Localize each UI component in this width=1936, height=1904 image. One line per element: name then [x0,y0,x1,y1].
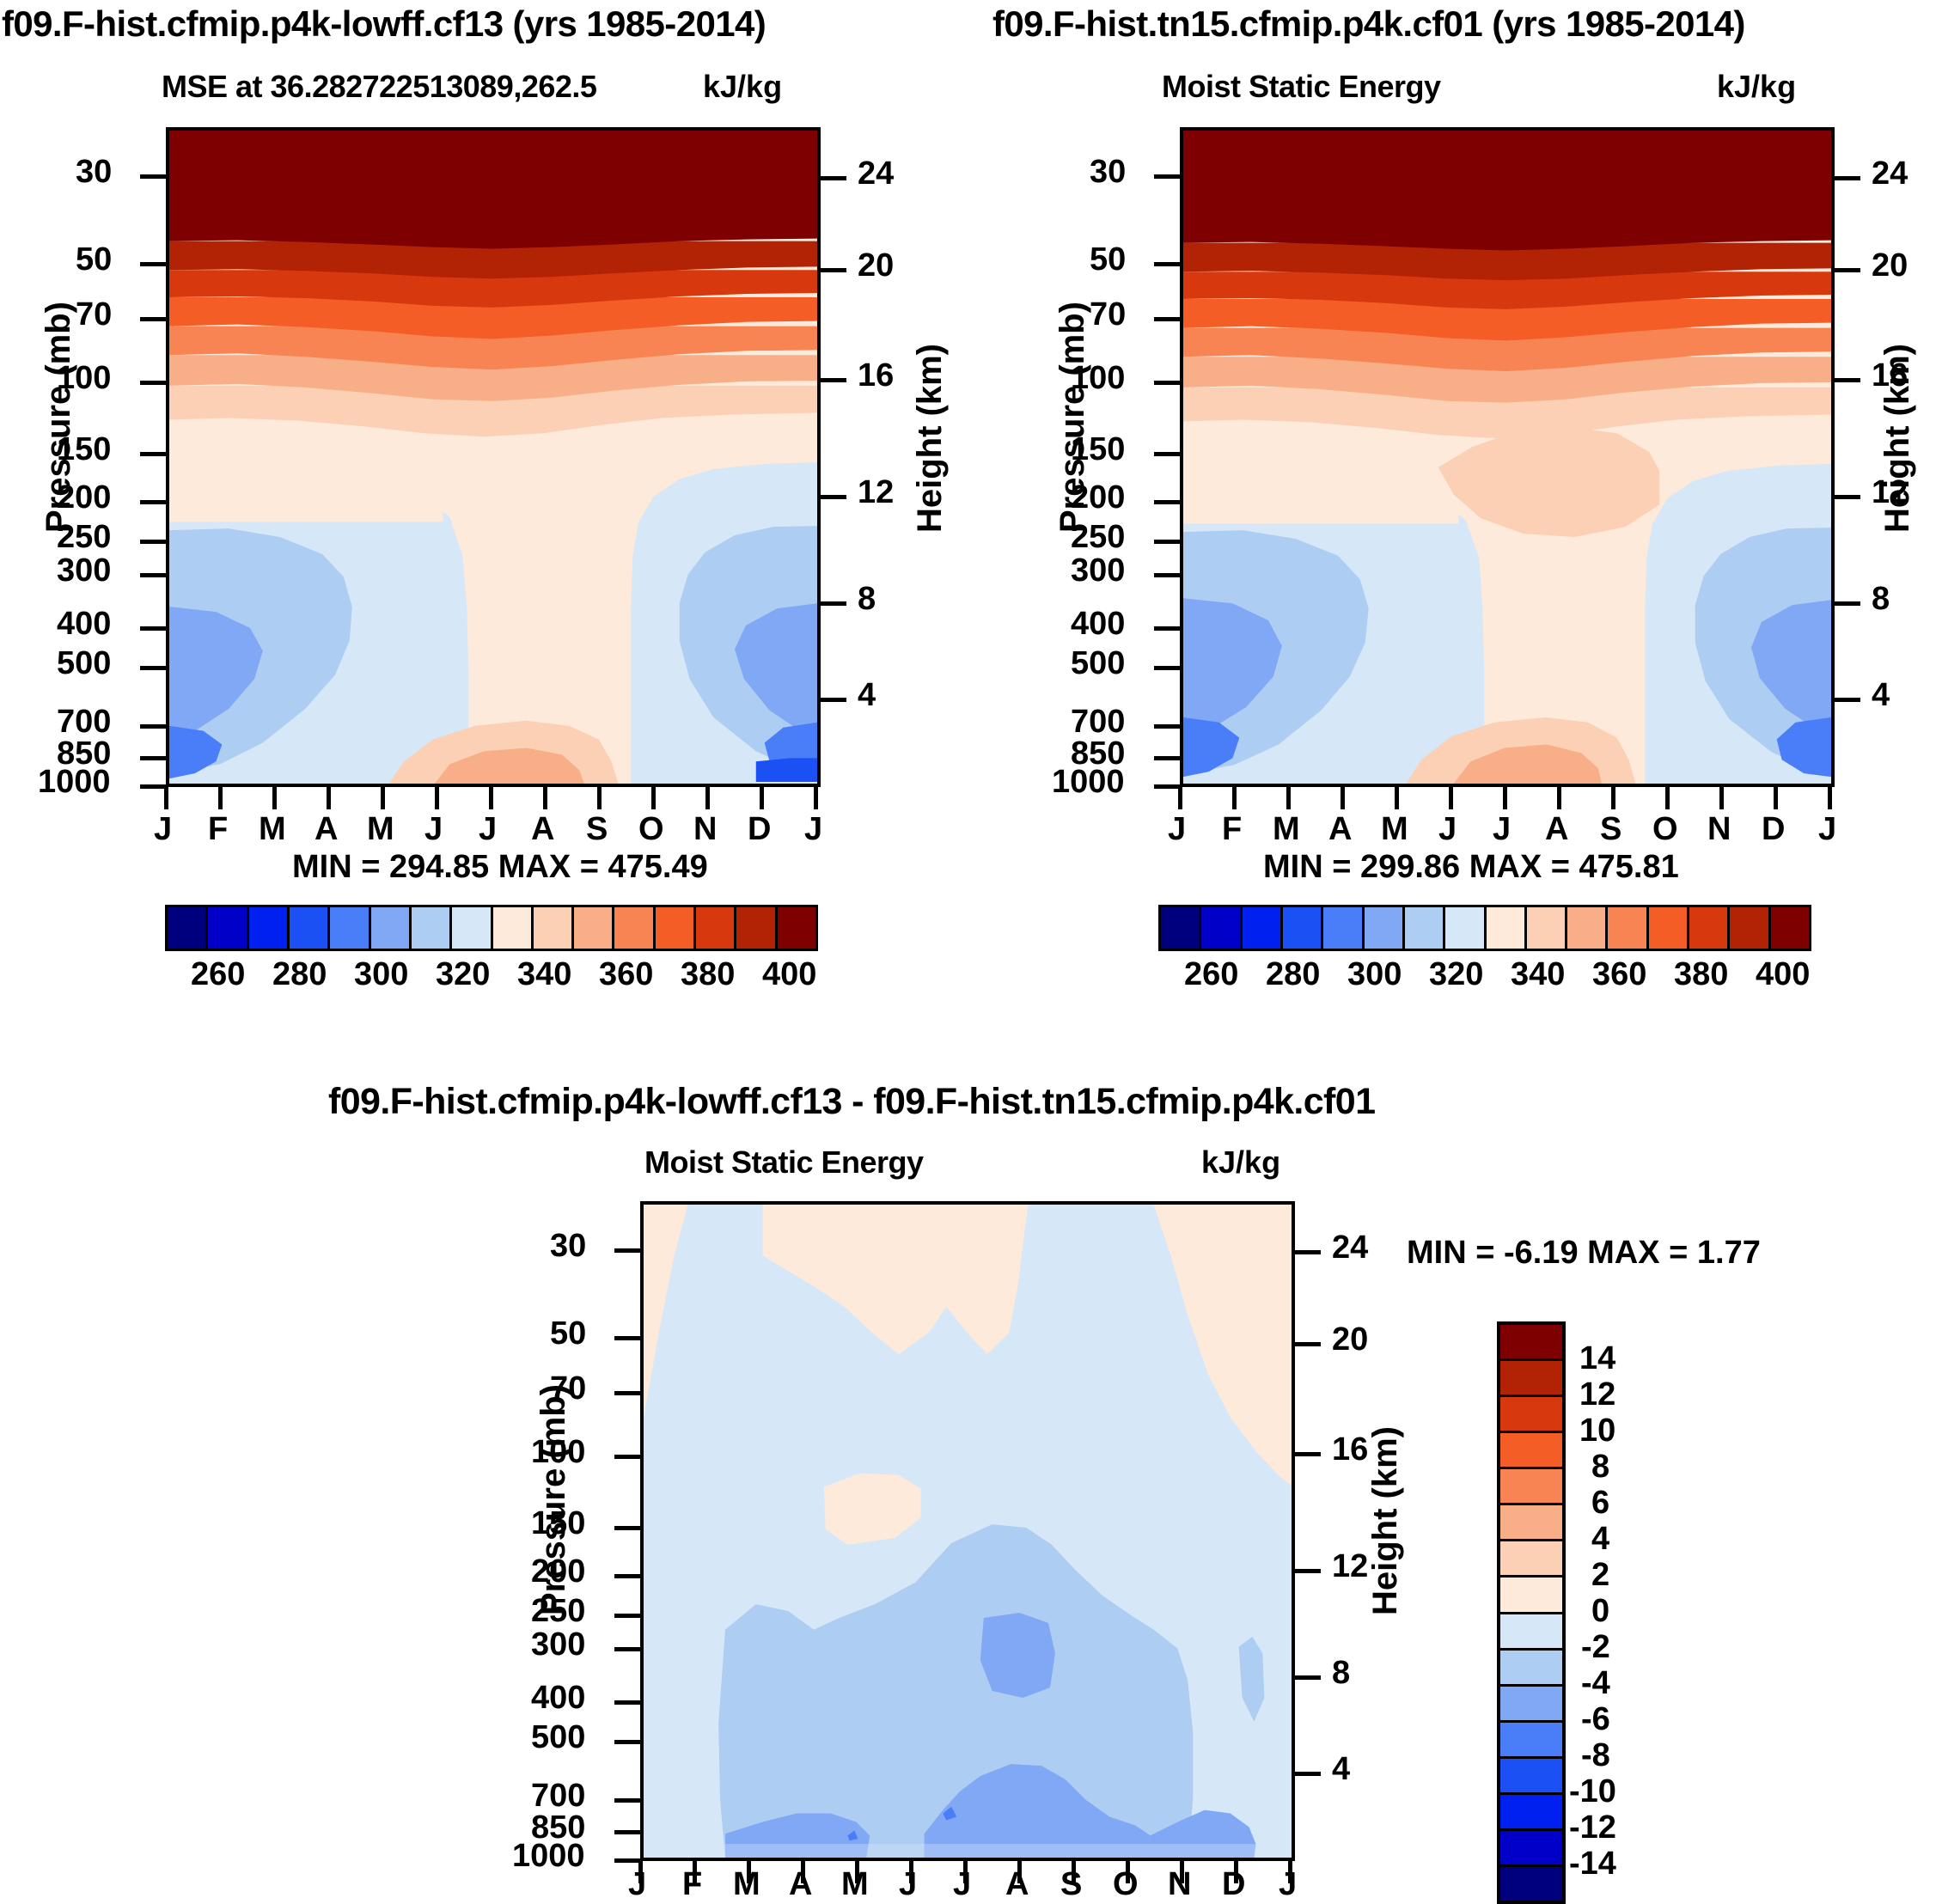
difference-panel-title: f09.F-hist.cfmip.p4k-lowff.cf13 - f09.F-… [328,1081,1375,1123]
xtick-label: J [1493,811,1511,848]
cbar-tick-label: 260 [1184,956,1238,993]
xtick-label: J [1279,1866,1297,1903]
left-panel-y2label: Height (km) [911,344,950,533]
colorbar-cell [1365,907,1405,949]
colorbar-cell [1500,1541,1562,1578]
ytick-label: 500 [531,1719,585,1756]
tick [1295,1250,1321,1254]
left-panel-units: kJ/kg [703,69,782,105]
tick [140,262,166,266]
colorbar-cell [1500,1469,1562,1505]
colorbar-cell [493,907,534,949]
tick [140,500,166,504]
tick [1154,317,1180,321]
colorbar-cell [656,907,696,949]
cbar-tick-label: 400 [1756,956,1810,993]
colorbar-cell [1487,907,1527,949]
cbar-tick-label: 360 [599,956,653,993]
tick [140,381,166,385]
tick [821,378,846,382]
tick [140,756,166,760]
right-panel-minmax: MIN = 299.86 MAX = 475.81 [1263,849,1679,886]
cbar-tick-label: 380 [681,956,735,993]
difference-panel-units: kJ/kg [1201,1144,1280,1181]
tick [821,698,846,702]
tick [1611,787,1615,809]
tick [1835,698,1860,702]
xtick-label: O [638,811,664,848]
colorbar-cell [1771,907,1809,949]
colorbar-cell [1500,1614,1562,1651]
tick [1774,787,1778,809]
colorbar-cell [208,907,248,949]
cbar-tick-label: 400 [762,956,816,993]
tick [614,1526,640,1530]
colorbar-cell [452,907,492,949]
y2tick-label: 8 [1332,1655,1350,1692]
tick [614,1336,640,1340]
colorbar-cell [534,907,574,949]
tick [489,787,493,809]
ytick-label: 1000 [1052,764,1125,801]
ytick-label: 30 [1090,154,1126,191]
colorbar-cell [1323,907,1364,949]
right-panel-title: f09.F-hist.tn15.cfmip.p4k.cf01 (yrs 1985… [992,3,1745,45]
ytick-label: 400 [1071,606,1125,643]
y2tick-label: 12 [1872,474,1908,511]
ytick-label: 250 [1071,519,1125,556]
ytick-label: 100 [531,1434,585,1471]
cbar-tick-label: 260 [191,956,245,993]
tick [140,784,166,789]
xtick-label: J [424,811,443,848]
y2tick-label: 20 [1872,247,1908,284]
difference-panel-colorbar [1497,1321,1566,1904]
cbar-tick-label: 340 [517,956,571,993]
tick [1503,787,1507,809]
left-panel-subtitle: MSE at 36.282722513089,262.5 [162,69,596,105]
colorbar-cell [1243,907,1283,949]
xtick-label: D [748,811,771,848]
xtick-label: S [1600,811,1621,848]
xtick-label: A [789,1866,812,1903]
cbar-tick-label: 14 [1579,1340,1615,1377]
xtick-label: J [899,1866,917,1903]
colorbar-cell [371,907,412,949]
cbar-tick-label: -6 [1581,1701,1610,1738]
xtick-label: O [1113,1866,1139,1903]
tick [614,1700,640,1705]
colorbar-cell [1500,1397,1562,1433]
tick [814,787,818,809]
ytick-label: 1000 [38,764,111,801]
cbar-tick-label: 300 [354,956,408,993]
left-panel-plot-area [166,127,821,787]
ytick-label: 250 [531,1593,585,1630]
tick [1232,787,1237,809]
cbar-tick-label: 340 [1511,956,1565,993]
ytick-label: 100 [57,360,111,397]
tick [1154,452,1180,456]
tick [1828,787,1832,809]
tick [1719,787,1724,809]
ytick-label: 50 [550,1315,586,1352]
cbar-tick-label: -14 [1569,1846,1616,1883]
xtick-label: A [1328,811,1352,848]
cbar-tick-label: 12 [1579,1376,1615,1413]
ytick-label: 500 [1071,645,1125,682]
tick [1154,540,1180,544]
left-panel-contour-field [169,131,817,784]
tick [1154,666,1180,670]
tick [1665,787,1670,809]
tick [614,1614,640,1618]
tick [1154,262,1180,266]
y2tick-label: 24 [1332,1230,1368,1266]
cbar-tick-label: 300 [1347,956,1402,993]
y2tick-label: 4 [858,677,876,714]
xtick-label: J [953,1866,971,1903]
y2tick-label: 8 [858,581,876,618]
tick [1154,724,1180,729]
tick [140,317,166,321]
tick [140,573,166,577]
tick [1154,784,1180,789]
ytick-label: 200 [531,1553,585,1590]
cbar-tick-label: 8 [1591,1449,1609,1486]
xtick-label: F [1222,811,1242,848]
xtick-label: N [1168,1866,1191,1903]
ytick-label: 300 [1071,552,1125,589]
y2tick-label: 24 [858,156,894,192]
xtick-label: M [1273,811,1300,848]
tick [1295,1675,1321,1680]
tick [614,1647,640,1651]
right-panel-contour-field [1183,131,1831,784]
tick [1295,1342,1321,1346]
colorbar-cell [290,907,330,949]
ytick-label: 70 [1090,296,1126,333]
colorbar-cell [1500,1723,1562,1759]
cbar-tick-label: -8 [1581,1737,1610,1774]
colorbar-cell [736,907,777,949]
colorbar-cell [1500,1578,1562,1614]
colorbar-cell [574,907,614,949]
y2tick-label: 16 [1872,357,1908,394]
cbar-tick-label: 10 [1579,1413,1615,1449]
ytick-label: 100 [1071,360,1125,397]
right-panel-units: kJ/kg [1717,69,1796,105]
tick [821,495,846,499]
colorbar-cell [1161,907,1201,949]
colorbar-cell [249,907,290,949]
tick [435,787,439,809]
colorbar-cell [1500,1325,1562,1361]
ytick-label: 300 [531,1626,585,1663]
tick [614,1740,640,1744]
xtick-label: M [841,1866,869,1903]
tick [1835,601,1860,606]
colorbar-cell [1445,907,1486,949]
xtick-label: J [804,811,822,848]
ytick-label: 400 [57,606,111,643]
y2tick-label: 4 [1332,1751,1350,1788]
colorbar-cell [1649,907,1689,949]
cbar-tick-label: 6 [1591,1485,1609,1522]
tick [140,540,166,544]
ytick-label: 70 [76,296,112,333]
ytick-label: 150 [531,1505,585,1542]
xtick-label: A [531,811,554,848]
left-panel-colorbar [165,905,818,951]
tick [1154,174,1180,179]
tick [140,452,166,456]
cbar-tick-label: 280 [272,956,327,993]
ytick-label: 250 [57,519,111,556]
y2tick-label: 8 [1872,581,1890,618]
colorbar-cell [1500,1651,1562,1687]
xtick-label: J [1168,811,1186,848]
xtick-label: A [1005,1866,1029,1903]
tick [614,1248,640,1253]
ytick-label: 150 [57,431,111,468]
xtick-label: D [1222,1866,1245,1903]
xtick-label: N [1707,811,1731,848]
colorbar-cell [1500,1505,1562,1541]
tick [1295,1772,1321,1776]
colorbar-cell [412,907,452,949]
cbar-tick-label: 360 [1592,956,1646,993]
difference-panel-y2label: Height (km) [1366,1426,1405,1615]
colorbar-cell [1500,1867,1562,1901]
xtick-label: J [479,811,497,848]
ytick-label: 300 [57,552,111,589]
cbar-tick-label: -4 [1581,1665,1610,1702]
tick [760,787,764,809]
y2tick-label: 24 [1872,156,1908,192]
colorbar-cell [168,907,208,949]
tick [218,787,223,809]
tick [164,787,168,809]
right-panel-subtitle: Moist Static Energy [1162,69,1441,105]
tick [140,626,166,631]
cbar-tick-label: -2 [1581,1629,1610,1666]
xtick-label: J [628,1866,646,1903]
tick [1449,787,1453,809]
cbar-tick-label: -12 [1569,1809,1616,1846]
left-panel-title: f09.F-hist.cfmip.p4k-lowff.cf13 (yrs 198… [2,3,766,45]
left-panel-minmax: MIN = 294.85 MAX = 475.49 [292,849,708,886]
xtick-label: M [1381,811,1408,848]
tick [140,724,166,729]
right-panel-plot-area [1180,127,1835,787]
colorbar-cell [1500,1361,1562,1397]
tick [614,1858,640,1863]
colorbar-cell [696,907,736,949]
colorbar-cell [1500,1687,1562,1723]
y2tick-label: 16 [1332,1431,1368,1468]
colorbar-cell [1500,1795,1562,1831]
tick [1286,787,1291,809]
cbar-tick-label: 320 [1429,956,1483,993]
tick [1835,176,1860,180]
tick [1341,787,1345,809]
xtick-label: M [259,811,286,848]
xtick-label: S [1060,1866,1082,1903]
tick [1178,787,1182,809]
cbar-tick-label: 4 [1591,1521,1609,1558]
tick [1295,1452,1321,1456]
difference-panel-subtitle: Moist Static Energy [644,1144,924,1181]
colorbar-cell [1730,907,1770,949]
ytick-label: 50 [1090,241,1126,278]
y2tick-label: 12 [1332,1548,1368,1585]
colorbar-cell [1500,1759,1562,1795]
ytick-label: 50 [76,241,112,278]
colorbar-cell [778,907,815,949]
tick [1295,1569,1321,1573]
xtick-label: F [682,1866,702,1903]
xtick-label: A [315,811,338,848]
ytick-label: 500 [57,645,111,682]
tick [597,787,602,809]
tick [272,787,277,809]
tick [1835,268,1860,272]
tick [1835,378,1860,382]
xtick-label: J [1818,811,1836,848]
colorbar-cell [1567,907,1608,949]
cbar-tick-label: 280 [1266,956,1320,993]
tick [381,787,385,809]
y2tick-label: 16 [858,357,894,394]
cbar-tick-label: 2 [1591,1557,1609,1594]
ytick-label: 150 [1071,431,1125,468]
tick [1154,500,1180,504]
xtick-label: A [1545,811,1568,848]
tick [614,1455,640,1459]
colorbar-cell [1689,907,1730,949]
tick [1395,787,1399,809]
tick [543,787,547,809]
xtick-label: M [367,811,394,848]
xtick-label: O [1652,811,1678,848]
ytick-label: 70 [550,1370,586,1407]
colorbar-cell [1405,907,1445,949]
cbar-tick-label: 380 [1674,956,1728,993]
colorbar-cell [330,907,370,949]
colorbar-cell [1201,907,1242,949]
colorbar-cell [1527,907,1567,949]
ytick-label: 30 [76,154,112,191]
y2tick-label: 4 [1872,677,1890,714]
ytick-label: 1000 [512,1838,585,1875]
tick [1154,573,1180,577]
ytick-label: 200 [1071,479,1125,516]
cbar-tick-label: -10 [1569,1773,1616,1810]
tick [821,268,846,272]
xtick-label: D [1762,811,1785,848]
ytick-label: 30 [550,1228,586,1265]
tick [1835,495,1860,499]
tick [614,1391,640,1395]
y2tick-label: 20 [858,247,894,284]
tick [821,176,846,180]
tick [327,787,331,809]
tick [1154,626,1180,631]
tick [614,1798,640,1803]
xtick-label: M [733,1866,760,1903]
difference-panel-contour-field [644,1205,1292,1858]
tick [821,601,846,606]
difference-panel-plot-area [640,1201,1295,1861]
tick [651,787,656,809]
xtick-label: J [1438,811,1457,848]
xtick-label: J [154,811,172,848]
right-panel-colorbar [1158,905,1811,951]
ytick-label: 400 [531,1680,585,1717]
colorbar-cell [1283,907,1323,949]
tick [614,1830,640,1834]
colorbar-cell [1500,1831,1562,1867]
difference-panel-minmax: MIN = -6.19 MAX = 1.77 [1407,1235,1761,1272]
xtick-label: N [693,811,717,848]
tick [614,1574,640,1578]
tick [705,787,710,809]
xtick-label: S [586,811,608,848]
colorbar-cell [614,907,655,949]
tick [140,174,166,179]
colorbar-cell [1608,907,1648,949]
tick [1154,756,1180,760]
cbar-tick-label: 320 [436,956,490,993]
xtick-label: F [208,811,228,848]
tick [1557,787,1561,809]
colorbar-cell [1500,1433,1562,1469]
y2tick-label: 20 [1332,1321,1368,1358]
y2tick-label: 12 [858,474,894,511]
tick [1154,381,1180,385]
tick [140,666,166,670]
ytick-label: 200 [57,479,111,516]
cbar-tick-label: 0 [1591,1593,1609,1630]
